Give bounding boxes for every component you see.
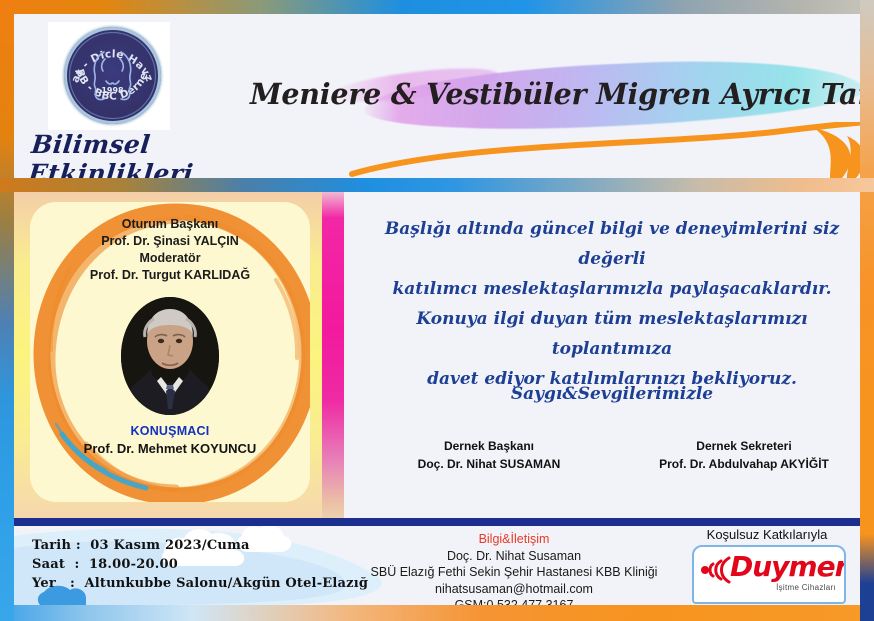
- signature-president: Dernek Başkanı Doç. Dr. Nihat SUSAMAN: [389, 437, 589, 473]
- contact-phone: GSM:0 532 477 3167: [344, 597, 684, 605]
- speaker-chair-block: Oturum Başkanı Prof. Dr. Şinasi YALÇIN M…: [30, 216, 310, 284]
- footer-divider-bar: [14, 518, 860, 526]
- speaker-panel: Oturum Başkanı Prof. Dr. Şinasi YALÇIN M…: [14, 192, 344, 518]
- speaker-name: Prof. Dr. Mehmet KOYUNCU: [30, 441, 310, 456]
- invitation-line-1: Başlığı altında güncel bilgi ve deneyiml…: [372, 214, 852, 274]
- invitation-line-3: Konuya ilgi duyan tüm meslektaşlarımızı …: [372, 304, 852, 364]
- moderator-role: Moderatör: [30, 250, 310, 267]
- frame-left-border: [0, 0, 14, 621]
- association-subtitle: Bilimsel Etkinlikleri: [27, 130, 283, 178]
- sponsor-block: Koşulsuz Katkılarıyla Duymer İşitme Ciha…: [688, 526, 846, 604]
- chair-name: Prof. Dr. Şinasi YALÇIN: [30, 233, 310, 250]
- contact-block: Bilgi&İletişim Doç. Dr. Nihat Susaman SB…: [344, 531, 684, 605]
- event-poster: Fırat - Dicle Havzası KBB - BBC Derneği …: [0, 0, 874, 621]
- sound-waves-icon: [699, 553, 733, 587]
- invitation-line-2: katılımcı meslektaşlarımızla paylaşacakl…: [372, 274, 852, 304]
- association-emblem-icon: Fırat - Dicle Havzası KBB - BBC Derneği …: [64, 27, 161, 124]
- chair-role: Oturum Başkanı: [30, 216, 310, 233]
- sponsor-tagline: İşitme Cihazları: [694, 583, 844, 592]
- orange-swoosh-icon: [344, 122, 860, 178]
- panel-pink-strip: [322, 192, 344, 518]
- invitation-text: Başlığı altında güncel bilgi ve deneyiml…: [372, 214, 852, 394]
- sponsor-brand-name: Duymer: [730, 550, 846, 583]
- speaker-portrait-photo: [121, 297, 219, 415]
- sponsor-label: Koşulsuz Katkılarıyla: [688, 527, 846, 542]
- poster-header: Fırat - Dicle Havzası KBB - BBC Derneği …: [14, 14, 860, 178]
- signature-secretary: Dernek Sekreteri Prof. Dr. Abdulvahap AK…: [629, 437, 859, 473]
- event-details: Tarih : 03 Kasım 2023/Cuma Saat : 18.00-…: [32, 536, 368, 593]
- contact-institution: SBÜ Elazığ Fethi Sekin Şehir Hastanesi K…: [344, 564, 684, 581]
- frame-bottom-border: [0, 605, 874, 621]
- sponsor-logo: Duymer İşitme Cihazları: [692, 545, 846, 604]
- frame-top-border: [0, 0, 874, 14]
- secretary-name: Prof. Dr. Abdulvahap AKYİĞİT: [629, 455, 859, 473]
- president-name: Doç. Dr. Nihat SUSAMAN: [389, 455, 589, 473]
- association-logo: Fırat - Dicle Havzası KBB - BBC Derneği …: [48, 22, 170, 130]
- poster-footer: Tarih : 03 Kasım 2023/Cuma Saat : 18.00-…: [14, 526, 860, 605]
- header-divider-band: [0, 178, 874, 192]
- speaker-card: Oturum Başkanı Prof. Dr. Şinasi YALÇIN M…: [30, 202, 310, 502]
- contact-title: Bilgi&İletişim: [344, 531, 684, 548]
- poster-body: Oturum Başkanı Prof. Dr. Şinasi YALÇIN M…: [14, 192, 860, 518]
- secretary-role: Dernek Sekreteri: [629, 437, 859, 455]
- regards-text: Saygı&Sevgilerimizle: [372, 384, 852, 404]
- page-title: Meniere & Vestibüler Migren Ayrıcı Tanı …: [250, 72, 860, 116]
- contact-name: Doç. Dr. Nihat Susaman: [344, 548, 684, 565]
- svg-text:1998: 1998: [101, 86, 124, 95]
- president-role: Dernek Başkanı: [389, 437, 589, 455]
- moderator-name: Prof. Dr. Turgut KARLIDAĞ: [30, 267, 310, 284]
- frame-right-border: [860, 0, 874, 621]
- speaker-role-label: KONUŞMACI: [30, 424, 310, 438]
- contact-email[interactable]: nihatsusaman@hotmail.com: [344, 581, 684, 598]
